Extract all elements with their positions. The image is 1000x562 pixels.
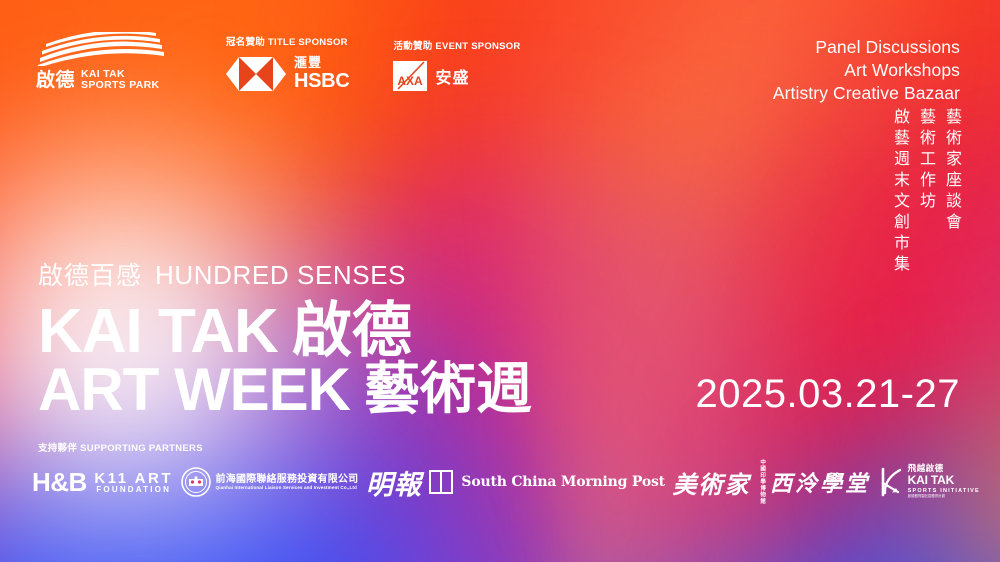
ktsi-lockup: 飛越啟德 KAI TAK SPORTS INITIATIVE 啟德體育園社區體育… [878, 465, 980, 499]
main-title-block: 啟德百感 HUNDRED SENSES KAI TAK 啟德 ART WEEK … [38, 256, 532, 420]
partner-logo-hb: H&B [32, 459, 87, 505]
qianhai-chinese-name: 前海國際聯絡服務投資有限公司 [216, 474, 359, 486]
title-sponsor-label-cn: 冠名贊助 [226, 37, 265, 48]
hsbc-logo: 滙豐 HSBC [226, 57, 349, 91]
scmp-window-icon [429, 470, 453, 494]
stadium-roof-icon [36, 32, 166, 66]
title-sponsor-label: 冠名贊助 TITLE SPONSOR [226, 34, 349, 48]
subtitle-chinese: 啟德百感 [38, 256, 142, 292]
poster: 啟德 KAI TAK SPORTS PARK 冠名贊助 TITLE SPONSO… [0, 0, 1000, 562]
programme-panel-discussions: Panel Discussions [773, 36, 960, 59]
ktsp-english-name: KAI TAK SPORTS PARK [81, 69, 159, 91]
partner-logo-artist-magazine: 美術家 [672, 459, 750, 505]
ktsi-wordmark: 飛越啟德 KAI TAK SPORTS INITIATIVE 啟德體育園社區體育… [908, 465, 980, 499]
programme-cn-creative-bazaar: 啟藝週末文創市集 [892, 108, 908, 276]
title-chinese-line2: 藝術週 [364, 361, 532, 419]
kai-tak-sports-park-wordmark: 啟德 KAI TAK SPORTS PARK [36, 69, 182, 91]
k11-top-text: K11 ART [94, 471, 173, 486]
qianhai-lockup: 前海國際聯絡服務投資有限公司 Qianhai International Lia… [181, 467, 359, 497]
event-sponsor-label: 活動贊助 EVENT SPONSOR [393, 38, 520, 52]
sponsor-bar: 啟德 KAI TAK SPORTS PARK 冠名贊助 TITLE SPONSO… [36, 32, 520, 91]
title-chinese-line1: 啟德 [292, 300, 412, 362]
title-line-1: KAI TAK 啟德 [38, 300, 532, 363]
title-line-2: ART WEEK 藝術週 [38, 359, 532, 420]
partner-logo-scmp: South China Morning Post [429, 459, 665, 505]
ktsi-subtitle: SPORTS INITIATIVE [908, 488, 980, 494]
partner-logo-xiling-academy: 中國印學博物館 西泠學堂 [758, 459, 870, 505]
xiling-main-text: 西泠學堂 [770, 466, 870, 498]
supporting-partners-label-cn: 支持夥伴 [38, 443, 77, 454]
hsbc-wordmark: 滙豐 HSBC [294, 57, 349, 91]
axa-chinese-name: 安盛 [435, 64, 469, 88]
ktsp-chinese-name: 啟德 [36, 71, 75, 90]
k11-bottom-text: FOUNDATION [94, 486, 173, 494]
title-sponsor-label-en: TITLE SPONSOR [268, 37, 348, 48]
artist-magazine-wordmark: 美術家 [672, 465, 750, 500]
axa-logo: AXA 安盛 [393, 61, 520, 91]
event-date: 2025.03.21-27 [695, 372, 960, 417]
supporting-partners-label: 支持夥伴 SUPPORTING PARTNERS [38, 440, 203, 454]
qianhai-english-name: Qianhai International Liaison Services a… [216, 485, 359, 490]
qianhai-seal-icon [181, 467, 211, 497]
qianhai-wordmark: 前海國際聯絡服務投資有限公司 Qianhai International Lia… [216, 474, 359, 491]
poster-content: 啟德 KAI TAK SPORTS PARK 冠名贊助 TITLE SPONSO… [0, 0, 1000, 562]
axa-square-icon: AXA [393, 61, 427, 91]
title-english-line1: KAI TAK [38, 300, 278, 363]
event-sponsor-label-cn: 活動贊助 [393, 41, 432, 52]
xiling-side-text: 中國印學博物館 [758, 459, 765, 505]
ktsi-fine-print: 啟德體育園社區體育計劃 [908, 495, 980, 499]
supporting-partners-label-en: SUPPORTING PARTNERS [80, 443, 203, 454]
subtitle: 啟德百感 HUNDRED SENSES [38, 256, 532, 292]
hsbc-hexagon-icon [226, 57, 286, 91]
programme-cn-panel-discussions: 藝術家座談會 [944, 108, 960, 276]
title-sponsor-block: 冠名贊助 TITLE SPONSOR 滙豐 HSBC [226, 34, 349, 91]
programme-cn-art-workshops: 藝術工作坊 [918, 108, 934, 276]
hsbc-chinese-name: 滙豐 [294, 57, 349, 70]
svg-text:AXA: AXA [398, 74, 424, 88]
partner-logo-kai-tak-sports-initiative: 飛越啟德 KAI TAK SPORTS INITIATIVE 啟德體育園社區體育… [878, 459, 980, 505]
xiling-lockup: 中國印學博物館 西泠學堂 [758, 459, 870, 505]
event-sponsor-block: 活動贊助 EVENT SPONSOR AXA 安盛 [393, 38, 520, 91]
partner-logo-k11-art-foundation: K11 ART FOUNDATION [94, 459, 173, 505]
title-english-line2: ART WEEK [38, 359, 350, 420]
hsbc-english-name: HSBC [294, 71, 349, 91]
k11-wordmark: K11 ART FOUNDATION [94, 471, 173, 494]
ming-pao-wordmark: 明報 [366, 463, 422, 502]
programme-artistry-bazaar: Artistry Creative Bazaar [773, 82, 960, 105]
partner-logo-ming-pao: 明報 [366, 459, 422, 505]
programme-list-chinese: 藝術家座談會 藝術工作坊 啟藝週末文創市集 [892, 108, 960, 276]
partner-logo-qianhai: 前海國際聯絡服務投資有限公司 Qianhai International Lia… [181, 459, 359, 505]
programme-art-workshops: Art Workshops [773, 59, 960, 82]
scmp-lockup: South China Morning Post [429, 470, 665, 494]
programme-list-english: Panel Discussions Art Workshops Artistry… [773, 36, 960, 105]
hb-wordmark: H&B [32, 467, 87, 498]
ktsi-english-name: KAI TAK [908, 474, 980, 487]
ktsi-swoosh-icon [878, 467, 904, 497]
scmp-wordmark: South China Morning Post [461, 474, 665, 490]
supporting-partners-row: H&B K11 ART FOUNDATION [32, 458, 980, 506]
kai-tak-sports-park-logo: 啟德 KAI TAK SPORTS PARK [36, 32, 182, 91]
subtitle-english: HUNDRED SENSES [155, 260, 406, 291]
event-sponsor-label-en: EVENT SPONSOR [435, 41, 520, 52]
